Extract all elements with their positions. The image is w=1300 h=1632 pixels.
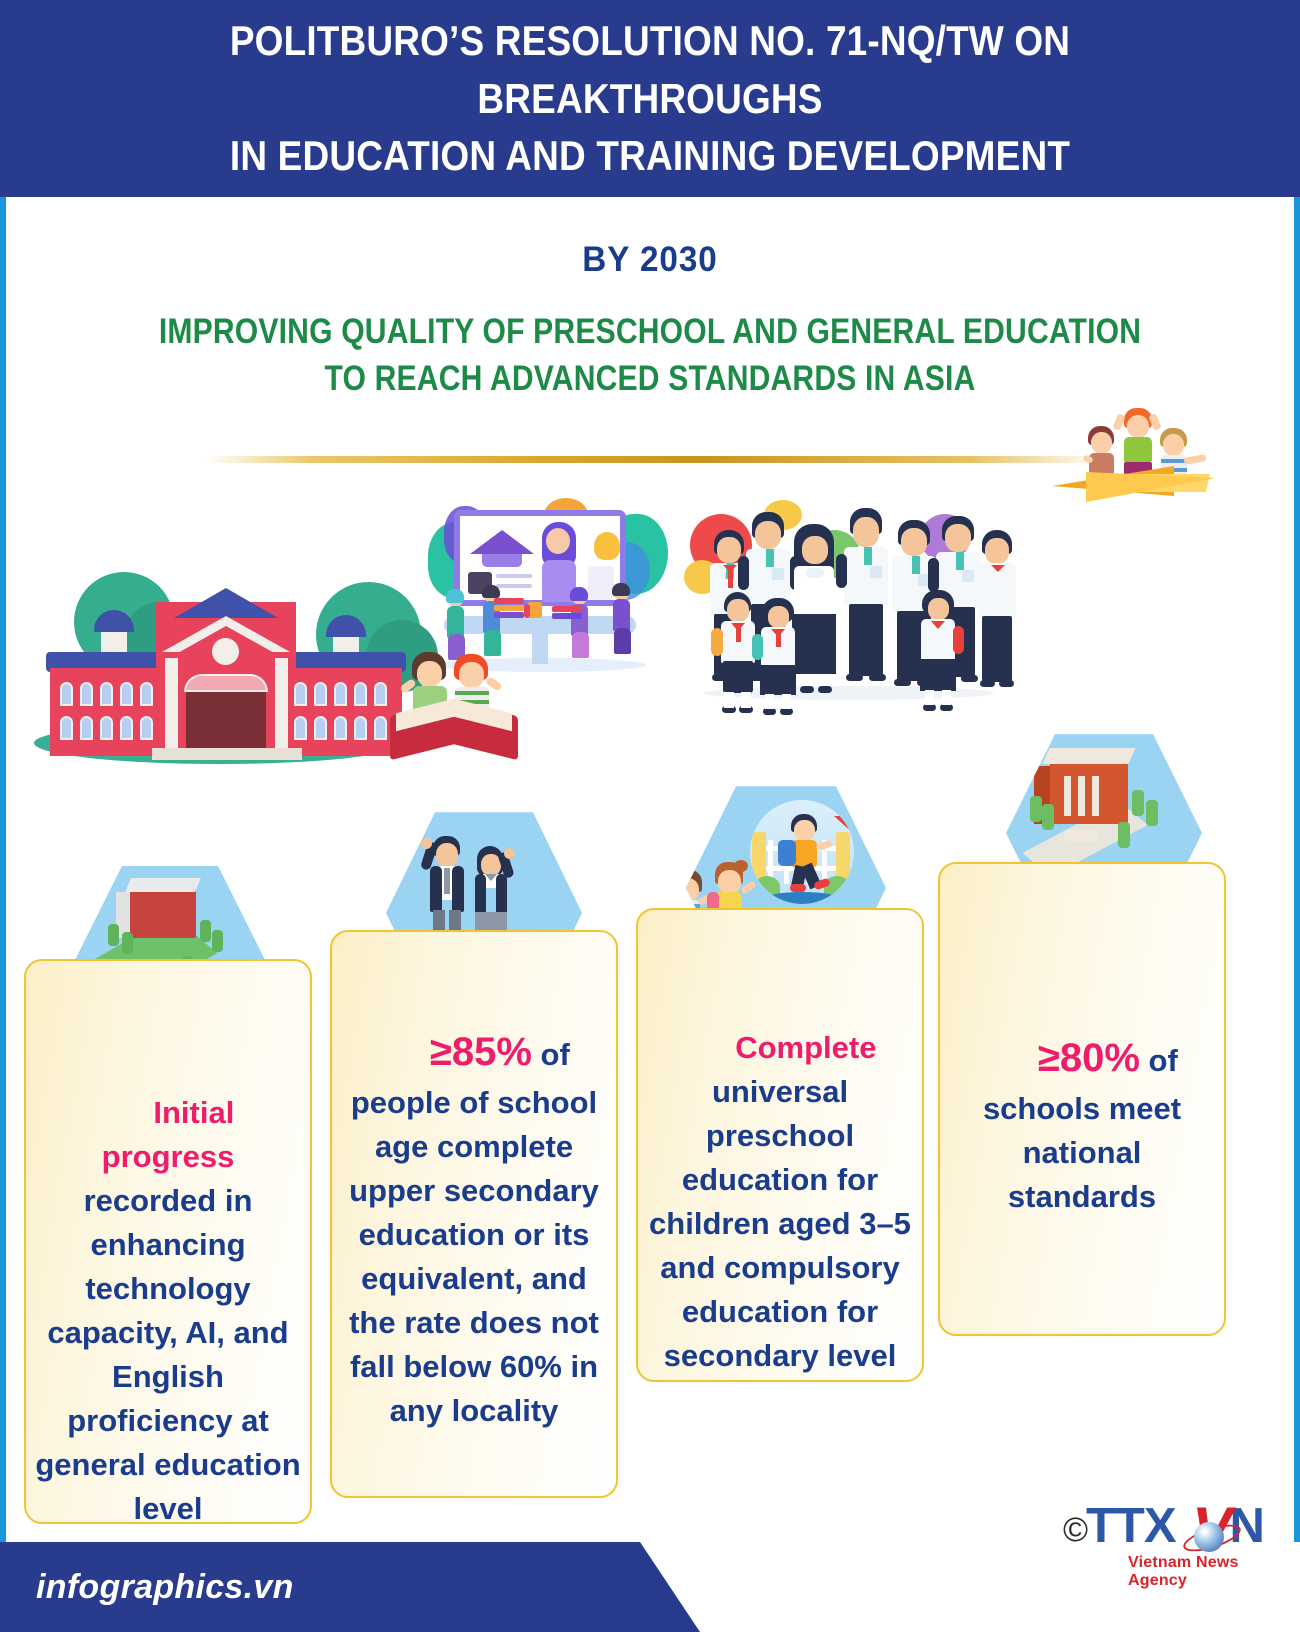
ttxvn-tagline: Vietnam News Agency xyxy=(1128,1554,1282,1590)
card-initial-progress: Initial progress recorded in enhancing t… xyxy=(24,959,312,1524)
card-initial-progress-text: Initial progress recorded in enhancing t… xyxy=(26,1047,310,1575)
card-initial-progress-highlight: Initial progress xyxy=(102,1095,243,1174)
school-building-illustration xyxy=(26,540,426,770)
students-group-illustration xyxy=(668,490,1016,708)
card-upper-secondary-85-body: of people of school age complete upper s… xyxy=(349,1037,607,1428)
card-national-standards-80: ≥80% of schools meet national standards xyxy=(938,862,1226,1336)
subheading-block: BY 2030 IMPROVING QUALITY OF PRESCHOOL A… xyxy=(0,240,1300,403)
goal-line-2: TO REACH ADVANCED STANDARDS IN ASIA xyxy=(91,355,1209,402)
header-line-1: POLITBURO’S RESOLUTION NO. 71-NQ/TW ON B… xyxy=(230,17,1070,122)
card-upper-secondary-85: ≥85% of people of school age complete up… xyxy=(330,930,618,1498)
by-year-label: BY 2030 xyxy=(33,240,1268,280)
card-universal-preschool-highlight: Complete xyxy=(735,1030,876,1065)
card-universal-preschool-text: Complete universal preschool education f… xyxy=(638,982,922,1422)
goal-statement: IMPROVING QUALITY OF PRESCHOOL AND GENER… xyxy=(91,308,1209,403)
card-national-standards-80-text: ≥80% of schools meet national standards xyxy=(940,986,1224,1263)
card-initial-progress-body: recorded in enhancing technology capacit… xyxy=(35,1139,309,1526)
card-national-standards-80-stat: ≥80% xyxy=(1038,1036,1140,1080)
infographic-page: POLITBURO’S RESOLUTION NO. 71-NQ/TW ON B… xyxy=(0,0,1300,1632)
copyright-icon: © xyxy=(1063,1511,1088,1550)
ttxvn-logo: TTXN V Vietnam News Agency xyxy=(1086,1498,1282,1576)
card-upper-secondary-85-stat: ≥85% xyxy=(430,1030,532,1074)
goal-line-1: IMPROVING QUALITY OF PRESCHOOL AND GENER… xyxy=(91,308,1209,355)
footer-banner: infographics.vn xyxy=(0,1542,700,1632)
card-upper-secondary-85-text: ≥85% of people of school age complete up… xyxy=(332,980,616,1477)
reading-kids-illustration xyxy=(390,646,520,756)
page-title: POLITBURO’S RESOLUTION NO. 71-NQ/TW ON B… xyxy=(82,12,1217,186)
header-banner: POLITBURO’S RESOLUTION NO. 71-NQ/TW ON B… xyxy=(0,0,1300,197)
header-line-2: IN EDUCATION AND TRAINING DEVELOPMENT xyxy=(82,127,1217,185)
paper-plane-kids-illustration xyxy=(1052,404,1224,514)
globe-icon xyxy=(1194,1522,1224,1552)
gold-divider xyxy=(205,456,1105,463)
card-universal-preschool-body: universal preschool education for childr… xyxy=(649,1030,920,1373)
card-universal-preschool: Complete universal preschool education f… xyxy=(636,908,924,1382)
site-url: infographics.vn xyxy=(36,1568,294,1607)
